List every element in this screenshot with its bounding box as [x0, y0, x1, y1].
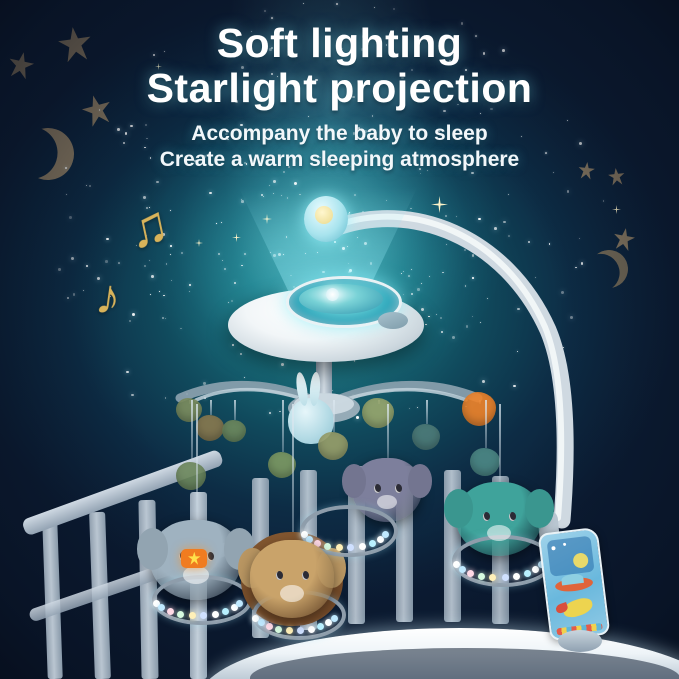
toy-string	[499, 404, 501, 482]
product-scene: ♫♪	[0, 0, 679, 679]
toy-eye-right	[509, 512, 516, 521]
toy-muzzle	[183, 566, 209, 584]
led-light	[177, 611, 184, 618]
led-light	[212, 611, 219, 618]
led-light	[459, 566, 466, 573]
led-light	[502, 574, 509, 581]
led-light	[266, 623, 273, 630]
led-light	[336, 544, 343, 551]
toy-eye-left	[374, 484, 381, 493]
toy-ear-right	[408, 464, 432, 497]
led-light	[308, 626, 315, 633]
led-light	[167, 608, 174, 615]
led-light	[189, 612, 196, 619]
toy-string	[292, 404, 294, 540]
led-light	[359, 543, 366, 550]
toy-string	[196, 404, 198, 520]
led-light	[331, 615, 338, 622]
led-light	[478, 573, 485, 580]
mobile-clamp	[558, 630, 602, 652]
toy-ear-left	[342, 464, 366, 497]
toy-muzzle	[487, 525, 511, 541]
led-light	[369, 540, 376, 547]
toy-muzzle	[377, 495, 397, 509]
toy-string	[387, 404, 389, 458]
toy-eye-right	[207, 552, 214, 561]
toy-ear-left	[444, 489, 473, 527]
toy-ear-right	[525, 489, 554, 527]
crib-mobile	[0, 0, 679, 679]
toy-ear-left	[137, 528, 168, 570]
led-light	[524, 570, 531, 577]
lion-plush[interactable]	[250, 540, 334, 618]
toy-eye-left	[483, 512, 490, 521]
star-badge	[181, 549, 207, 568]
star-icon	[188, 552, 201, 565]
